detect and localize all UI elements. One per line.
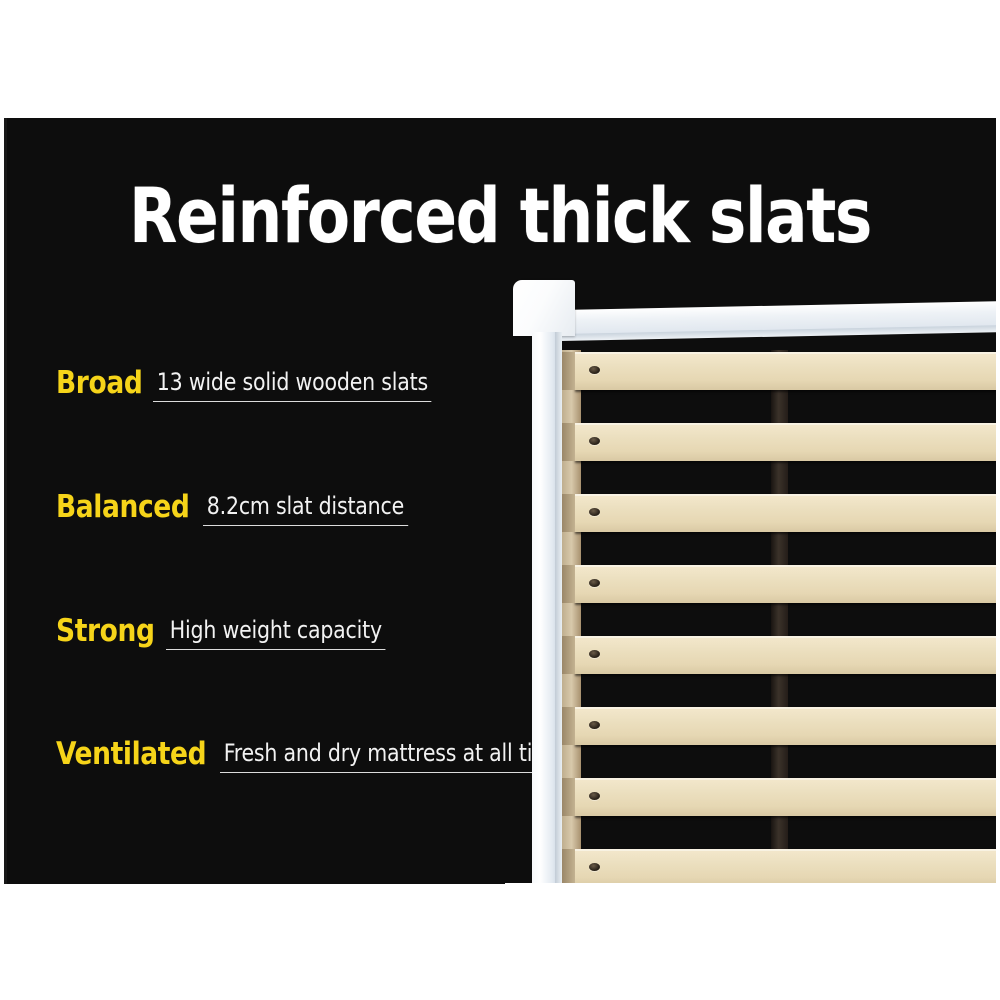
slat-end-cap	[562, 778, 575, 816]
bed-frame-post-shadow	[555, 332, 562, 884]
slat-screw	[589, 863, 600, 871]
slat-end-cap	[562, 352, 575, 390]
bed-frame-corner-block	[513, 280, 575, 336]
wooden-slat	[575, 778, 996, 816]
slat-end-cap	[562, 707, 575, 745]
feature-keyword: Strong	[56, 614, 155, 648]
feature-keyword: Broad	[56, 366, 142, 400]
slat-screw	[589, 508, 600, 516]
slat-end-cap	[562, 849, 575, 884]
wooden-slat	[575, 494, 996, 532]
feature-description: High weight capacity	[166, 617, 386, 650]
slat-end-cap	[562, 494, 575, 532]
feature-description: 8.2cm slat distance	[203, 493, 408, 526]
wooden-slat	[575, 352, 996, 390]
feature-row-strong: Strong High weight capacity	[56, 614, 397, 653]
slat-screw	[589, 792, 600, 800]
feature-row-broad: Broad 13 wide solid wooden slats	[56, 366, 446, 405]
feature-keyword: Ventilated	[56, 737, 206, 771]
feature-description: 13 wide solid wooden slats	[153, 369, 432, 402]
product-photo	[505, 162, 996, 884]
slat-screw	[589, 366, 600, 374]
feature-keyword: Balanced	[56, 490, 189, 524]
wooden-slat	[575, 849, 996, 884]
feature-row-balanced: Balanced 8.2cm slat distance	[56, 490, 418, 529]
slat-screw	[589, 437, 600, 445]
photo-bottom-edge	[505, 883, 996, 884]
wooden-slat	[575, 565, 996, 603]
slat-end-cap	[562, 423, 575, 461]
wooden-slat	[575, 423, 996, 461]
slat-screw	[589, 650, 600, 658]
slat-screw	[589, 579, 600, 587]
wooden-slat	[575, 707, 996, 745]
wooden-slat	[575, 636, 996, 674]
image-canvas: Reinforced thick slats Broad 13 wide sol…	[0, 0, 1000, 1000]
slat-screw	[589, 721, 600, 729]
slat-end-cap	[562, 636, 575, 674]
slat-end-cap	[562, 565, 575, 603]
